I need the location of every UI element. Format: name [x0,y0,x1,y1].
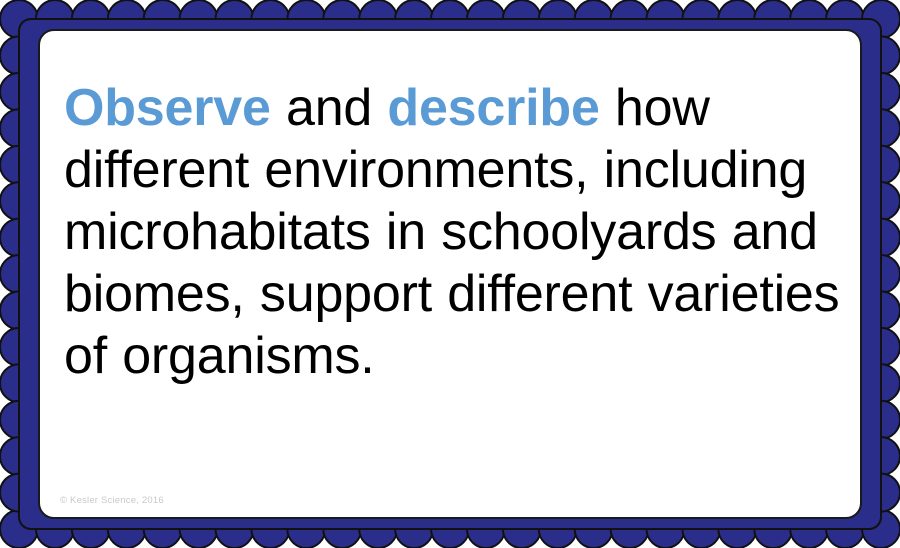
highlight-word-observe: Observe [64,79,271,137]
objective-statement: Observe and describe how different envir… [64,77,840,387]
slide-canvas: Observe and describe how different envir… [0,0,900,548]
statement-text-1: and [271,79,388,137]
copyright-notice: © Kesler Science, 2016 [60,495,164,507]
content-card: Observe and describe how different envir… [38,29,862,519]
highlight-word-describe: describe [387,79,599,137]
